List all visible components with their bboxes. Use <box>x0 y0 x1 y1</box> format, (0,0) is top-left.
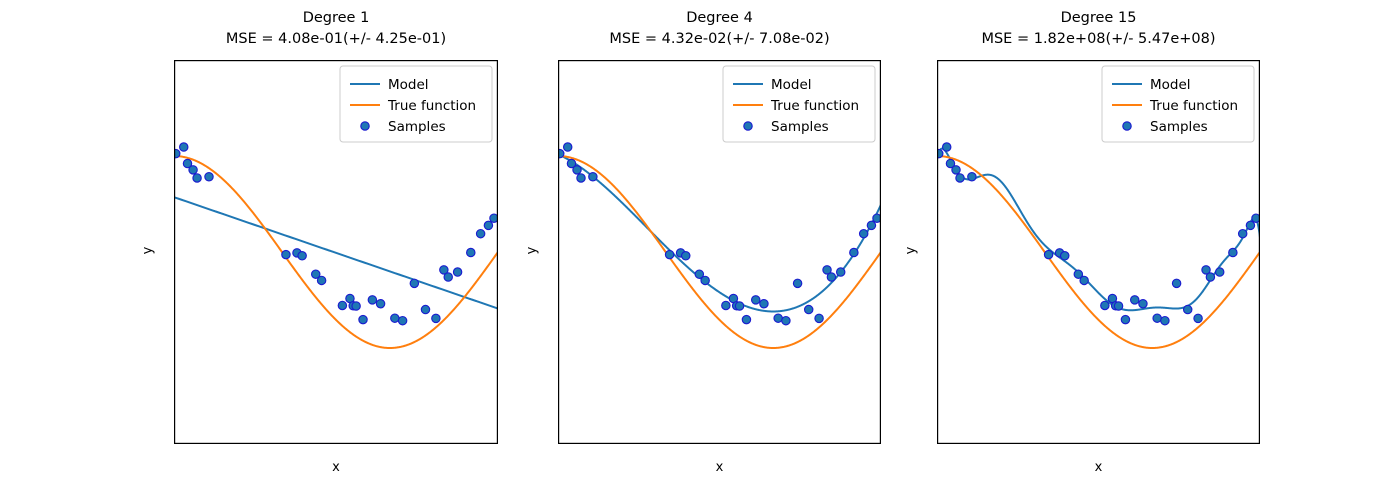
sample-point <box>1131 296 1139 304</box>
sample-point <box>1238 229 1246 237</box>
samples-scatter <box>937 143 1260 325</box>
sample-point <box>1184 305 1192 313</box>
sample-point <box>1246 221 1254 229</box>
sample-point <box>1161 316 1169 324</box>
sample-point <box>1080 276 1088 284</box>
true-function-curve <box>937 156 1260 348</box>
sample-point <box>1252 214 1260 222</box>
sample-point <box>1121 315 1129 323</box>
sample-point <box>1139 300 1147 308</box>
panel-title-text-2: Degree 15 MSE = 1.82e+08(+/- 5.47e+08) <box>981 10 1215 47</box>
sample-point <box>1044 250 1052 258</box>
sample-point <box>1194 314 1202 322</box>
sample-point <box>1114 302 1122 310</box>
x-axis-label-2: x <box>937 460 1260 475</box>
model-curve <box>937 149 1260 311</box>
figure-canvas: Degree 1 MSE = 4.08e-01(+/- 4.25e-01) Mo… <box>0 0 1400 500</box>
y-axis-label-2: y <box>904 241 919 261</box>
sample-point <box>1172 279 1180 287</box>
legend-label: Model <box>1150 77 1191 93</box>
sample-point <box>1061 252 1069 260</box>
sample-point <box>1206 273 1214 281</box>
sample-point <box>968 173 976 181</box>
sample-point <box>956 174 964 182</box>
sample-point <box>1153 314 1161 322</box>
sample-point <box>952 166 960 174</box>
legend-swatch-marker <box>1123 122 1131 130</box>
sample-point <box>1216 268 1224 276</box>
subplot-degree-15: Degree 15 MSE = 1.82e+08(+/- 5.47e+08) M… <box>0 0 1400 500</box>
sample-point <box>1229 248 1237 256</box>
sample-point <box>1101 301 1109 309</box>
legend-label: True function <box>1149 98 1238 114</box>
panel-title-2: Degree 15 MSE = 1.82e+08(+/- 5.47e+08) <box>877 8 1320 49</box>
plot-area-degree-15: ModelTrue functionSamples <box>937 60 1260 444</box>
axes-degree-15: ModelTrue functionSamples <box>937 60 1260 444</box>
legend[interactable]: ModelTrue functionSamples <box>1102 66 1254 142</box>
legend-label: Samples <box>1150 119 1208 135</box>
sample-point <box>943 143 951 151</box>
